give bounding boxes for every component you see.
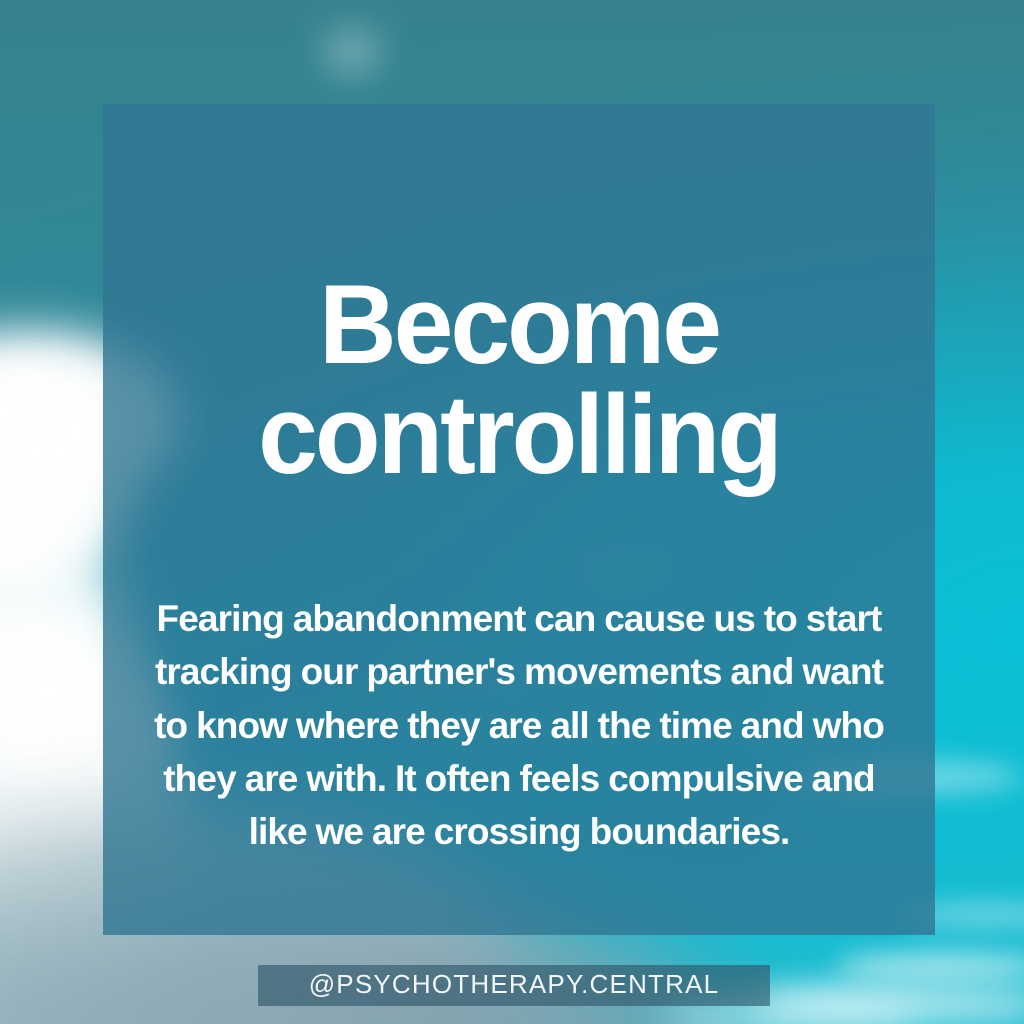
headline-title: Become controlling [120, 270, 919, 490]
body-paragraph: Fearing abandonment can cause us to star… [151, 592, 887, 858]
social-media-quote-card: Become controlling Fearing abandonment c… [0, 0, 1024, 1024]
account-handle-label: @PSYCHOTHERAPY.CENTRAL [309, 969, 720, 1000]
cirrus-wisp [322, 26, 382, 78]
text-overlay-panel: Become controlling Fearing abandonment c… [103, 104, 935, 935]
account-handle-banner: @PSYCHOTHERAPY.CENTRAL [258, 965, 770, 1006]
